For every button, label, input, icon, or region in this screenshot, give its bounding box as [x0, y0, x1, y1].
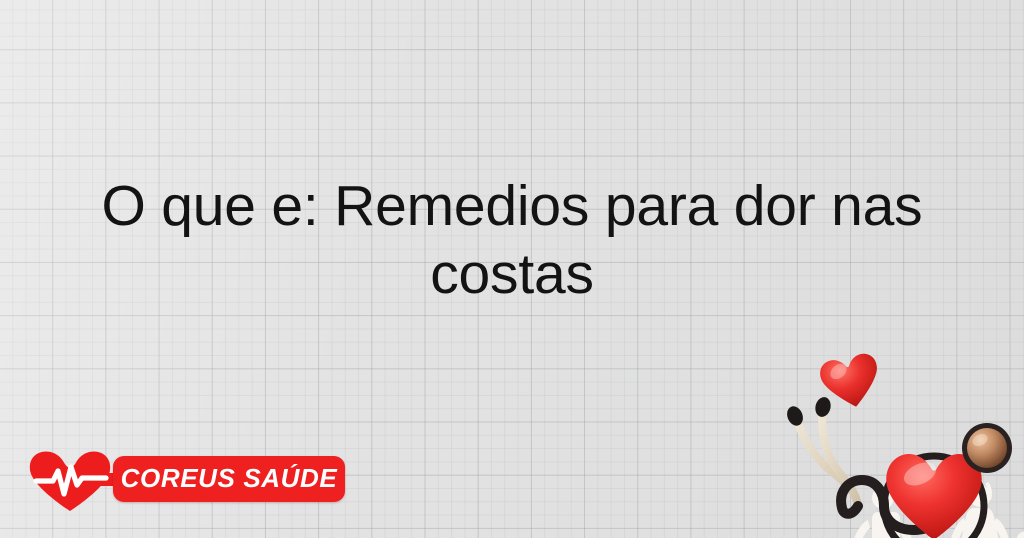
brand-logo[interactable]: COREUS SAÚDE: [28, 447, 358, 515]
brand-name-label: COREUS SAÚDE: [113, 456, 345, 502]
heart-pulse-icon: [28, 450, 112, 512]
stethoscope-chestpiece: [962, 423, 1012, 473]
page-title-line-2: costas: [60, 240, 964, 308]
page-title-line-1: O que e: Remedios para dor nas: [60, 172, 964, 240]
title-card: O que e: Remedios para dor nas costas CO…: [0, 0, 1024, 538]
brand-name-pill: COREUS SAÚDE: [113, 456, 345, 502]
health-collage: [780, 340, 1024, 538]
page-title: O que e: Remedios para dor nas costas: [60, 172, 964, 308]
